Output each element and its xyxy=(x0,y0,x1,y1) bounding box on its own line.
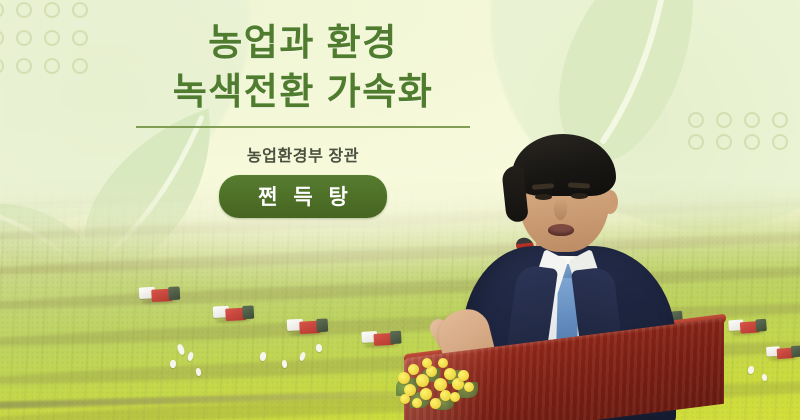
flower-petal xyxy=(422,358,432,368)
flower-petal xyxy=(464,382,474,392)
decorative-dot xyxy=(688,112,704,128)
page-title: 농업과 환경 녹색전환 가속화 xyxy=(0,18,606,116)
flower-petal xyxy=(450,392,460,402)
flower-petal xyxy=(412,398,422,408)
harvester-header xyxy=(316,318,328,332)
field-speck xyxy=(316,344,323,353)
decorative-dot xyxy=(744,134,760,150)
harvester-header xyxy=(755,319,766,332)
decorative-dot xyxy=(772,112,788,128)
decorative-dot xyxy=(716,134,732,150)
field-speck xyxy=(281,360,287,369)
harvester-machine xyxy=(213,304,257,323)
decorative-dot xyxy=(716,112,732,128)
harvester-header xyxy=(390,331,402,344)
harvester-header xyxy=(242,305,254,319)
title-divider-rule xyxy=(136,126,470,128)
flower-petal xyxy=(458,370,469,381)
harvester-machine xyxy=(766,345,800,362)
harvester-header xyxy=(168,286,180,300)
flower-petal xyxy=(408,364,419,375)
harvester-machine xyxy=(361,330,403,349)
harvester-machine xyxy=(139,285,183,304)
harvester-header xyxy=(791,345,800,357)
speaker-mouth xyxy=(548,224,574,236)
decorative-dot xyxy=(744,112,760,128)
flower-petal xyxy=(400,394,410,404)
flower-petal xyxy=(398,372,410,384)
headline-block: 농업과 환경 녹색전환 가속화 농업환경부 장관 쩐 득 탕 xyxy=(0,0,606,218)
flower-petal xyxy=(416,374,429,387)
flower-arrangement xyxy=(392,348,488,414)
speaker-role-label: 농업환경부 장관 xyxy=(0,142,606,166)
flower-petal xyxy=(438,358,448,368)
banner-root: 농업과 환경 녹색전환 가속화 농업환경부 장관 쩐 득 탕 xyxy=(0,0,800,420)
flower-petal xyxy=(430,398,441,409)
harvester-machine xyxy=(728,318,769,337)
speaker-name-badge: 쩐 득 탕 xyxy=(219,175,387,218)
flower-petal xyxy=(420,388,432,400)
harvester-machine xyxy=(287,317,331,336)
decorative-dot xyxy=(772,134,788,150)
